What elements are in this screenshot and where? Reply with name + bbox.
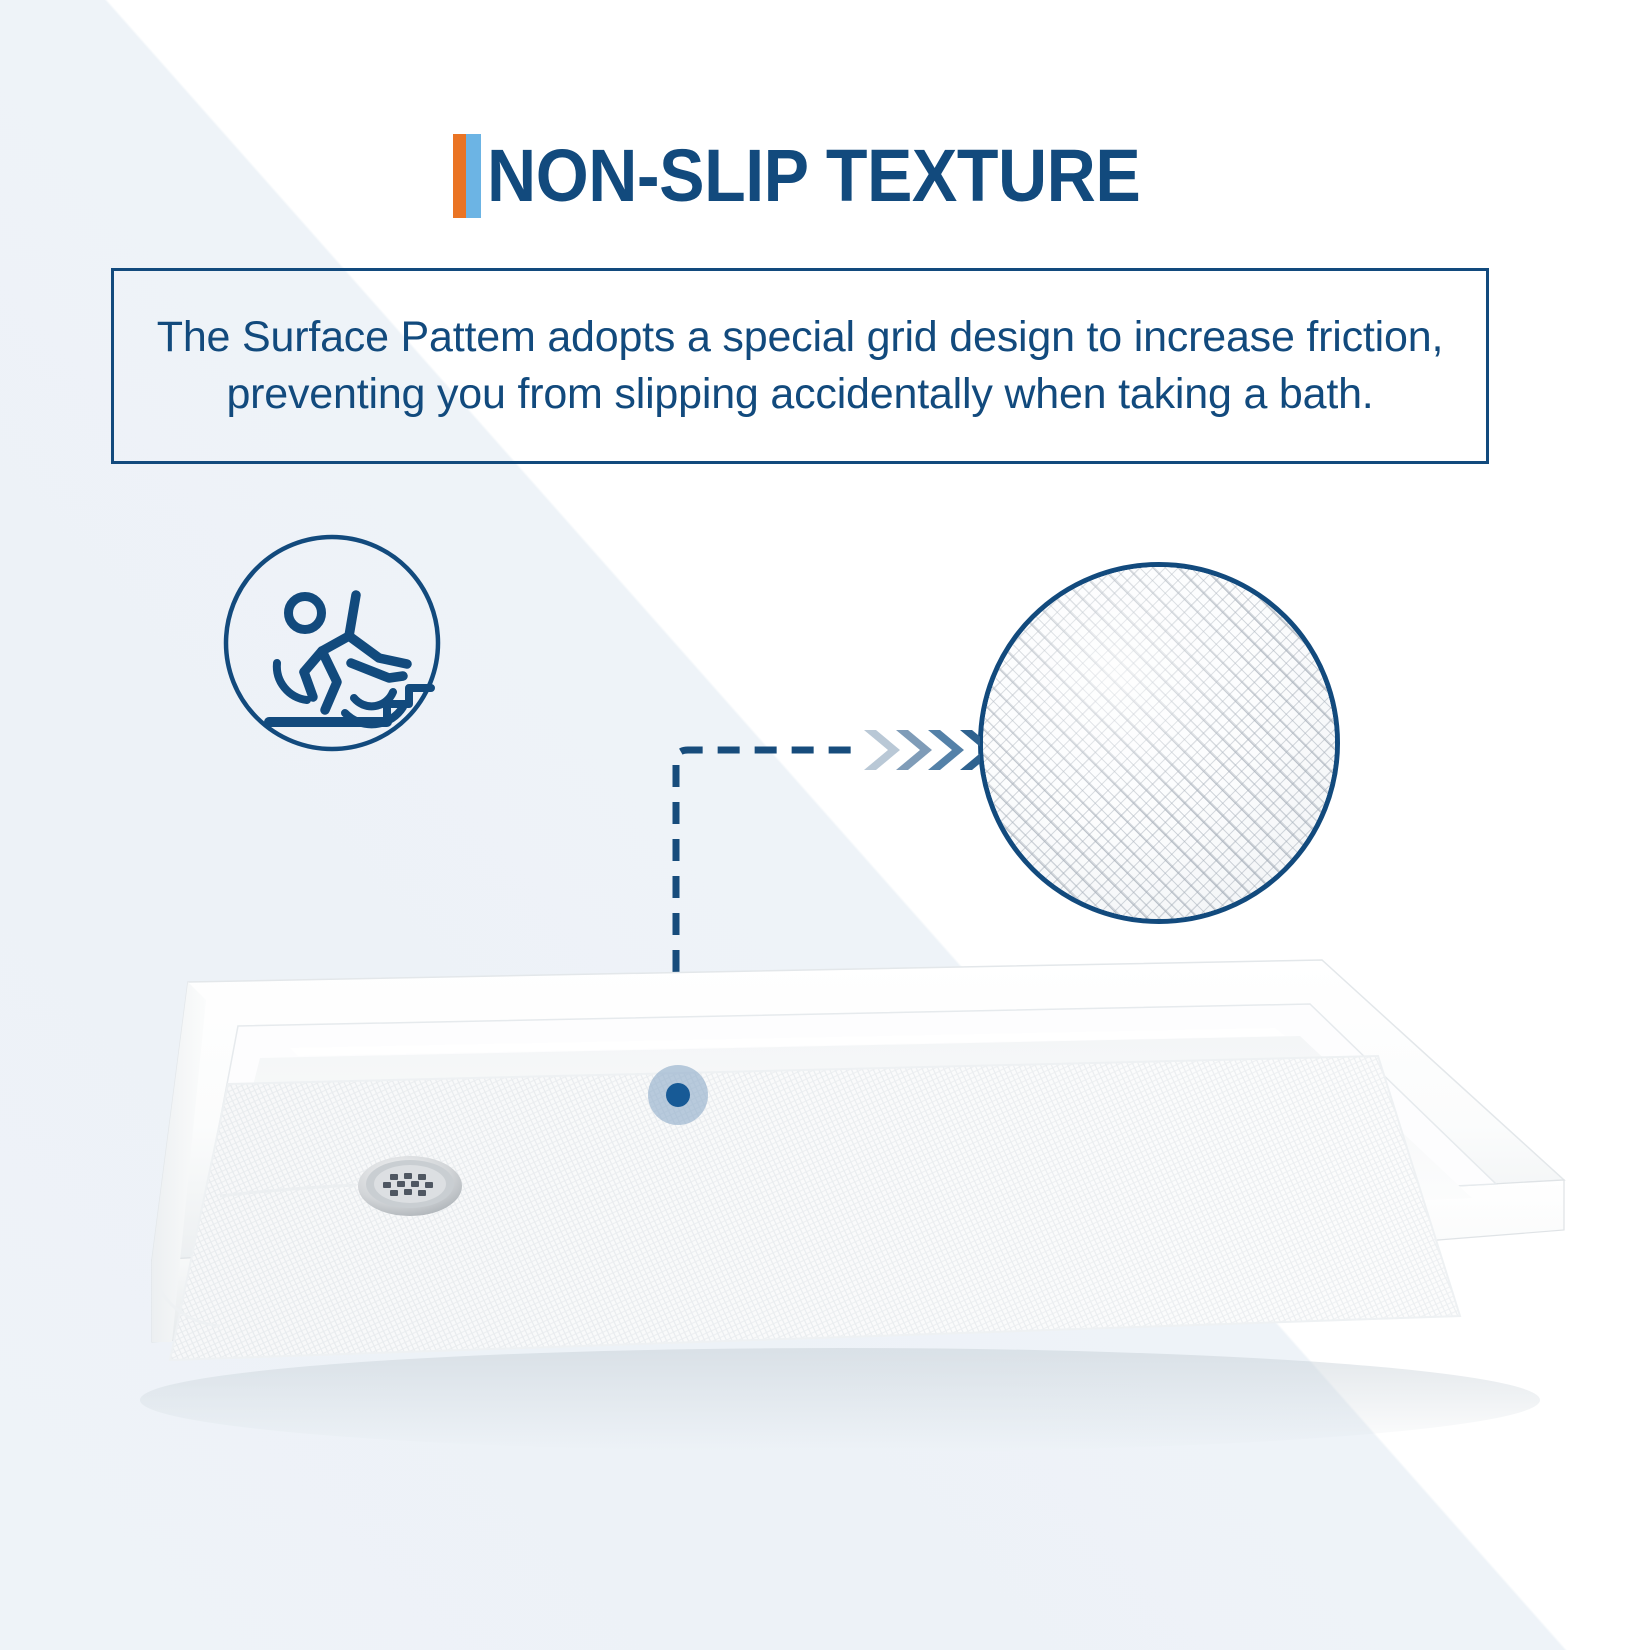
description-text: The Surface Pattem adopts a special grid… <box>114 309 1486 423</box>
marker-core <box>666 1083 690 1107</box>
page-title-row: NON-SLIP TEXTURE <box>0 134 1650 218</box>
description-box: The Surface Pattem adopts a special grid… <box>111 268 1489 464</box>
texture-closeup-circle <box>978 562 1340 924</box>
shower-drain <box>358 1156 462 1216</box>
callout-marker-dot <box>648 1065 708 1125</box>
title-accent-bars <box>453 134 481 218</box>
shower-base-tray <box>60 930 1600 1470</box>
slip-hazard-icon <box>221 532 443 754</box>
tray-shadow <box>140 1348 1540 1452</box>
page-title: NON-SLIP TEXTURE <box>487 139 1140 213</box>
accent-bar-lightblue <box>466 134 481 218</box>
accent-bar-orange <box>453 134 466 218</box>
texture-highlight-overlay <box>983 567 1335 919</box>
infographic-canvas: NON-SLIP TEXTURE The Surface Pattem adop… <box>0 0 1650 1650</box>
